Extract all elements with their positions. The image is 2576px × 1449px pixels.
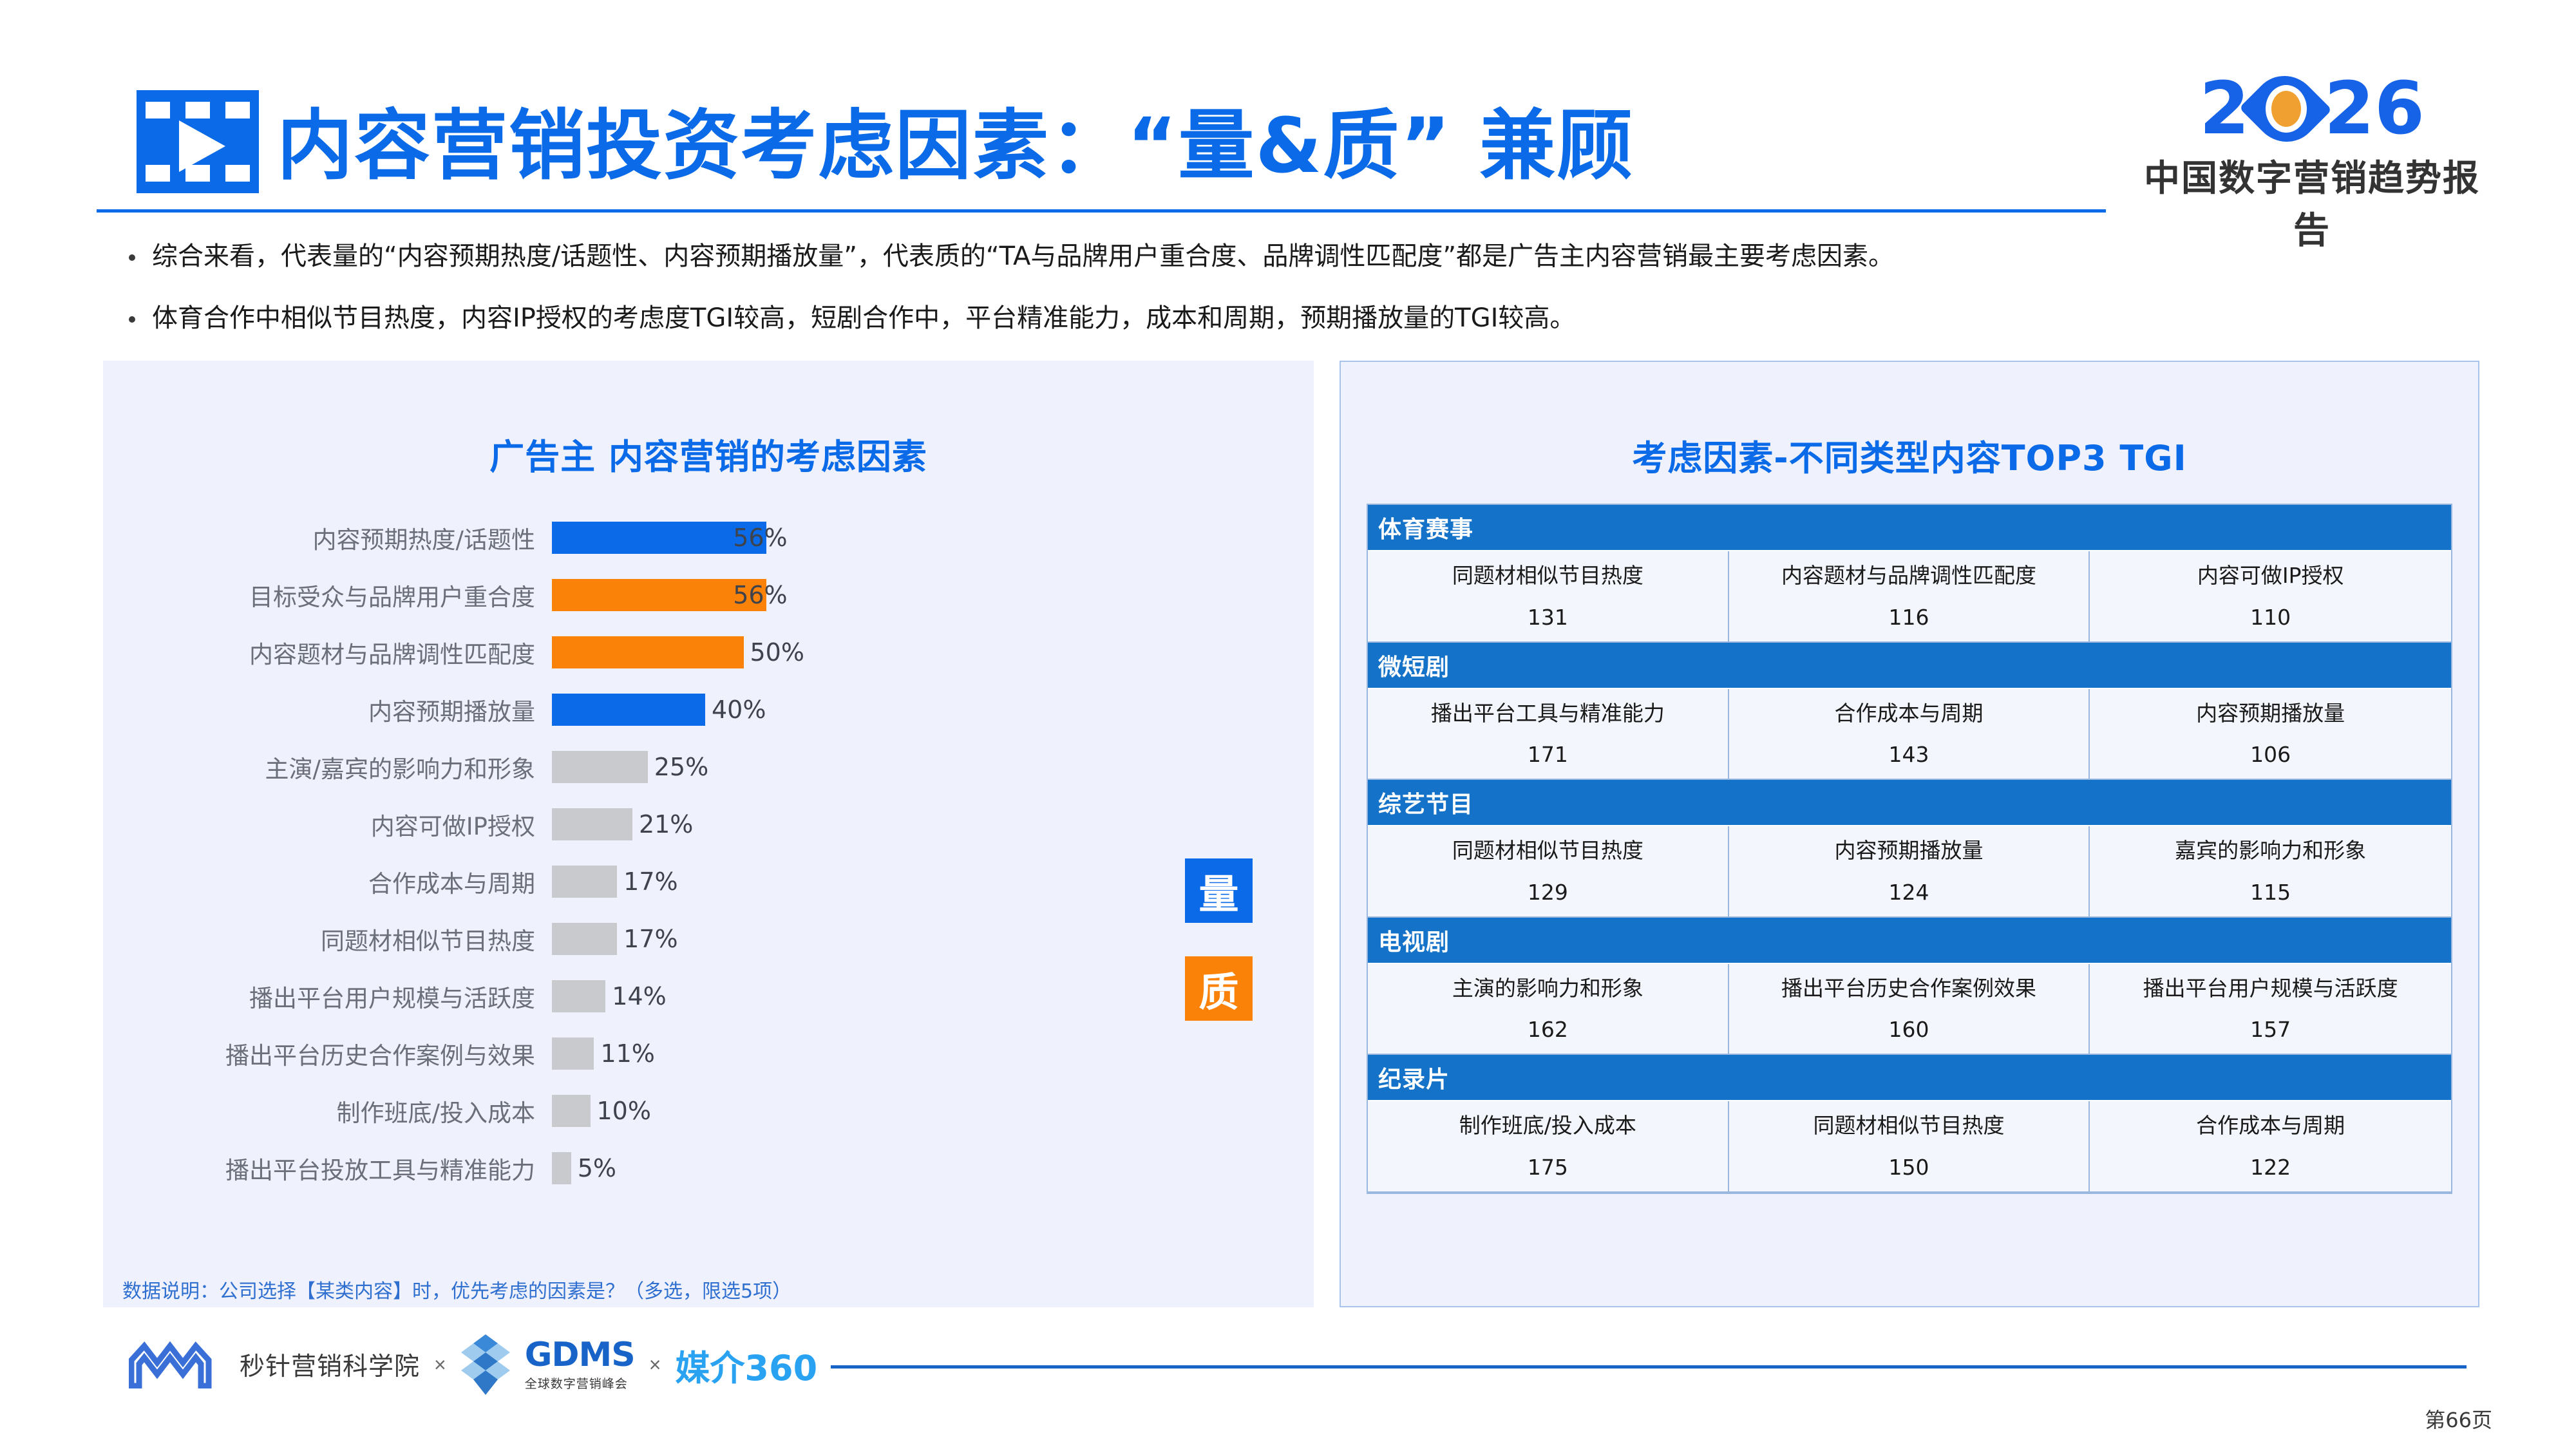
tgi-value: 150 [1734, 1155, 2084, 1180]
bar-fill [552, 1152, 571, 1184]
table-cell: 内容预期播放量106 [2090, 689, 2451, 781]
table-cell: 内容可做IP授权110 [2090, 551, 2451, 643]
tgi-table-title: 考虑因素-不同类型内容TOP3 TGI [1341, 430, 2478, 480]
brand-year-2026: 2 26 [2132, 71, 2492, 147]
bar-value-label: 50% [750, 638, 804, 667]
data-note: 数据说明：公司选择【某类内容】时，优先考虑的因素是？（多选，限选5项） [122, 1275, 791, 1303]
bar-chart-row: 播出平台投放工具与精准能力5% [103, 1139, 1314, 1197]
bar-value-label: 56% [733, 524, 787, 552]
tgi-factor-label: 内容预期播放量 [1734, 837, 2084, 866]
tgi-value: 110 [2095, 605, 2446, 630]
tgi-group-header: 电视剧 [1368, 918, 2451, 964]
bar-track: 56% [552, 579, 788, 611]
tgi-factor-label: 嘉宾的影响力和形象 [2095, 837, 2446, 866]
tgi-factor-label: 内容题材与品牌调性匹配度 [1734, 562, 2084, 591]
page-number: 第66页 [2425, 1404, 2492, 1434]
tgi-value: 116 [1734, 605, 2084, 630]
tgi-factor-label: 主演的影响力和形象 [1373, 974, 1723, 1003]
tgi-factor-label: 合作成本与周期 [1734, 699, 2084, 728]
bullet-text: 综合来看，代表量的“内容预期热度/话题性、内容预期播放量”，代表质的“TA与品牌… [152, 238, 1894, 274]
bar-value-label: 10% [597, 1097, 651, 1125]
bar-chart-row: 播出平台历史合作案例与效果11% [103, 1025, 1314, 1082]
tgi-factor-label: 制作班底/投入成本 [1373, 1112, 1723, 1141]
tgi-table: 体育赛事同题材相似节目热度131内容题材与品牌调性匹配度116内容可做IP授权1… [1367, 504, 2452, 1194]
bar-value-label: 14% [612, 982, 666, 1010]
legend-badge-quality: 质 [1185, 956, 1253, 1021]
list-item: 体育合作中相似节目热度，内容IP授权的考虑度TGI较高，短剧合作中，平台精准能力… [129, 300, 2447, 336]
slide-header: 内容营销投资考虑因素：“量&质” 兼顾 2 26 中国数字营销趋势报告 [0, 0, 2576, 219]
tgi-factor-label: 播出平台历史合作案例效果 [1734, 974, 2084, 1003]
bar-track: 17% [552, 866, 678, 898]
bar-chart-row: 目标受众与品牌用户重合度56% [103, 566, 1314, 623]
slide-footer: 秒针营销科学院 × GDMS 全球数字营销峰会 × 媒介360 第66页 [0, 1327, 2576, 1449]
tgi-group-header: 微短剧 [1368, 643, 2451, 689]
bar-track: 50% [552, 636, 804, 668]
tgi-value: 162 [1373, 1017, 1723, 1042]
legend-badge-quantity: 量 [1185, 858, 1253, 923]
bar-value-label: 21% [639, 810, 693, 838]
bar-category-label: 同题材相似节目热度 [103, 922, 552, 956]
logo-separator: × [434, 1353, 446, 1377]
bar-chart-row: 同题材相似节目热度17% [103, 910, 1314, 967]
bar-value-label: 56% [733, 581, 787, 609]
bar-track: 40% [552, 694, 766, 726]
bar-chart-title: 广告主 内容营销的考虑因素 [103, 428, 1314, 479]
table-cell: 内容题材与品牌调性匹配度116 [1729, 551, 2090, 643]
bar-track: 5% [552, 1152, 616, 1184]
bar-chart: 内容预期热度/话题性56%目标受众与品牌用户重合度56%内容题材与品牌调性匹配度… [103, 509, 1314, 1197]
tgi-factor-label: 内容可做IP授权 [2095, 562, 2446, 591]
bar-chart-row: 播出平台用户规模与活跃度14% [103, 967, 1314, 1025]
brand-year-right: 26 [2324, 73, 2425, 145]
gdms-logo: GDMS 全球数字营销峰会 [525, 1338, 635, 1392]
bar-track: 17% [552, 923, 678, 955]
table-cell: 合作成本与周期122 [2090, 1101, 2451, 1193]
tgi-value: 115 [2095, 880, 2446, 905]
bar-track: 21% [552, 808, 693, 840]
bar-chart-row: 合作成本与周期17% [103, 853, 1314, 910]
bar-category-label: 播出平台用户规模与活跃度 [103, 979, 552, 1014]
tgi-factor-label: 同题材相似节目热度 [1373, 562, 1723, 591]
tgi-value: 160 [1734, 1017, 2084, 1042]
bar-category-label: 内容可做IP授权 [103, 807, 552, 842]
table-row: 播出平台工具与精准能力171合作成本与周期143内容预期播放量106 [1368, 689, 2451, 781]
table-row: 同题材相似节目热度129内容预期播放量124嘉宾的影响力和形象115 [1368, 826, 2451, 918]
bar-category-label: 内容预期热度/话题性 [103, 520, 552, 555]
table-row: 同题材相似节目热度131内容题材与品牌调性匹配度116内容可做IP授权110 [1368, 551, 2451, 643]
tgi-factor-label: 播出平台工具与精准能力 [1373, 699, 1723, 728]
partner-logos: 秒针营销科学院 × GDMS 全球数字营销峰会 × 媒介360 [129, 1333, 817, 1396]
tgi-factor-label: 同题材相似节目热度 [1734, 1112, 2084, 1141]
page-title: 内容营销投资考虑因素：“量&质” 兼顾 [277, 84, 1634, 194]
table-cell: 嘉宾的影响力和形象115 [2090, 826, 2451, 918]
film-play-icon [137, 90, 259, 193]
bar-category-label: 主演/嘉宾的影响力和形象 [103, 750, 552, 784]
tgi-factor-label: 播出平台用户规模与活跃度 [2095, 974, 2446, 1003]
title-divider [97, 209, 2106, 213]
bullet-text: 体育合作中相似节目热度，内容IP授权的考虑度TGI较高，短剧合作中，平台精准能力… [152, 300, 1575, 336]
bar-fill [552, 808, 632, 840]
bullet-dot-icon [129, 316, 135, 323]
bar-fill [552, 923, 617, 955]
tgi-factor-label: 同题材相似节目热度 [1373, 837, 1723, 866]
bar-category-label: 合作成本与周期 [103, 864, 552, 899]
bar-fill [552, 1095, 591, 1127]
table-cell: 制作班底/投入成本175 [1368, 1101, 1729, 1193]
bar-track: 10% [552, 1095, 651, 1127]
table-cell: 同题材相似节目热度150 [1729, 1101, 2090, 1193]
bar-category-label: 播出平台投放工具与精准能力 [103, 1151, 552, 1186]
bar-fill [552, 694, 705, 726]
bar-track: 14% [552, 980, 667, 1012]
tgi-group-header: 体育赛事 [1368, 505, 2451, 551]
tgi-value: 175 [1373, 1155, 1723, 1180]
tgi-value: 106 [2095, 742, 2446, 767]
bar-chart-row: 内容预期热度/话题性56% [103, 509, 1314, 566]
bar-fill [552, 1037, 594, 1070]
tgi-table-panel: 考虑因素-不同类型内容TOP3 TGI 体育赛事同题材相似节目热度131内容题材… [1340, 361, 2479, 1307]
bar-fill [552, 980, 605, 1012]
bar-fill [552, 751, 648, 783]
tgi-value: 157 [2095, 1017, 2446, 1042]
tgi-value: 129 [1373, 880, 1723, 905]
table-cell: 播出平台工具与精准能力171 [1368, 689, 1729, 781]
bar-value-label: 25% [654, 753, 708, 781]
bar-chart-row: 内容题材与品牌调性匹配度50% [103, 623, 1314, 681]
bar-category-label: 目标受众与品牌用户重合度 [103, 578, 552, 612]
table-row: 主演的影响力和形象162播出平台历史合作案例效果160播出平台用户规模与活跃度1… [1368, 964, 2451, 1056]
tgi-value: 122 [2095, 1155, 2446, 1180]
bar-chart-row: 内容可做IP授权21% [103, 795, 1314, 853]
bar-track: 56% [552, 522, 788, 554]
bar-chart-row: 主演/嘉宾的影响力和形象25% [103, 738, 1314, 795]
bar-category-label: 内容预期播放量 [103, 692, 552, 727]
table-cell: 同题材相似节目热度131 [1368, 551, 1729, 643]
bar-chart-row: 制作班底/投入成本10% [103, 1082, 1314, 1139]
logo-separator: × [649, 1353, 661, 1377]
bar-chart-panel: 广告主 内容营销的考虑因素 内容预期热度/话题性56%目标受众与品牌用户重合度5… [103, 361, 1314, 1307]
bar-value-label: 17% [623, 925, 677, 953]
miaozhen-logo-icon [129, 1341, 225, 1388]
bar-value-label: 40% [712, 696, 766, 724]
tgi-group-header: 纪录片 [1368, 1055, 2451, 1101]
table-cell: 播出平台历史合作案例效果160 [1729, 964, 2090, 1056]
tgi-value: 143 [1734, 742, 2084, 767]
report-brand-logo: 2 26 中国数字营销趋势报告 [2132, 71, 2492, 254]
eye-icon [2252, 73, 2322, 145]
bar-value-label: 5% [578, 1154, 616, 1182]
meijie360-logo: 媒介360 [675, 1340, 817, 1390]
tgi-value: 124 [1734, 880, 2084, 905]
bar-chart-row: 内容预期播放量40% [103, 681, 1314, 738]
gdms-wordmark: GDMS [525, 1338, 635, 1372]
bar-category-label: 制作班底/投入成本 [103, 1094, 552, 1128]
bullet-list: 综合来看，代表量的“内容预期热度/话题性、内容预期播放量”，代表质的“TA与品牌… [129, 238, 2447, 362]
bar-track: 25% [552, 751, 708, 783]
tgi-value: 131 [1373, 605, 1723, 630]
tgi-value: 171 [1373, 742, 1723, 767]
bar-category-label: 内容题材与品牌调性匹配度 [103, 635, 552, 670]
bar-fill [552, 866, 617, 898]
table-cell: 同题材相似节目热度129 [1368, 826, 1729, 918]
table-cell: 内容预期播放量124 [1729, 826, 2090, 918]
bar-track: 11% [552, 1037, 655, 1070]
bullet-dot-icon [129, 254, 135, 261]
miaozhen-label: 秒针营销科学院 [240, 1347, 420, 1383]
tgi-factor-label: 内容预期播放量 [2095, 699, 2446, 728]
bar-value-label: 17% [623, 867, 677, 896]
bar-value-label: 11% [600, 1039, 654, 1068]
footer-divider [831, 1365, 2467, 1368]
table-cell: 播出平台用户规模与活跃度157 [2090, 964, 2451, 1056]
bar-category-label: 播出平台历史合作案例与效果 [103, 1036, 552, 1071]
table-cell: 主演的影响力和形象162 [1368, 964, 1729, 1056]
tgi-factor-label: 合作成本与周期 [2095, 1112, 2446, 1141]
tgi-group-header: 综艺节目 [1368, 780, 2451, 826]
list-item: 综合来看，代表量的“内容预期热度/话题性、内容预期播放量”，代表质的“TA与品牌… [129, 238, 2447, 274]
gdms-subtitle: 全球数字营销峰会 [525, 1374, 628, 1392]
table-row: 制作班底/投入成本175同题材相似节目热度150合作成本与周期122 [1368, 1101, 2451, 1193]
bar-fill [552, 636, 744, 668]
table-cell: 合作成本与周期143 [1729, 689, 2090, 781]
gdms-cube-icon [460, 1333, 511, 1396]
